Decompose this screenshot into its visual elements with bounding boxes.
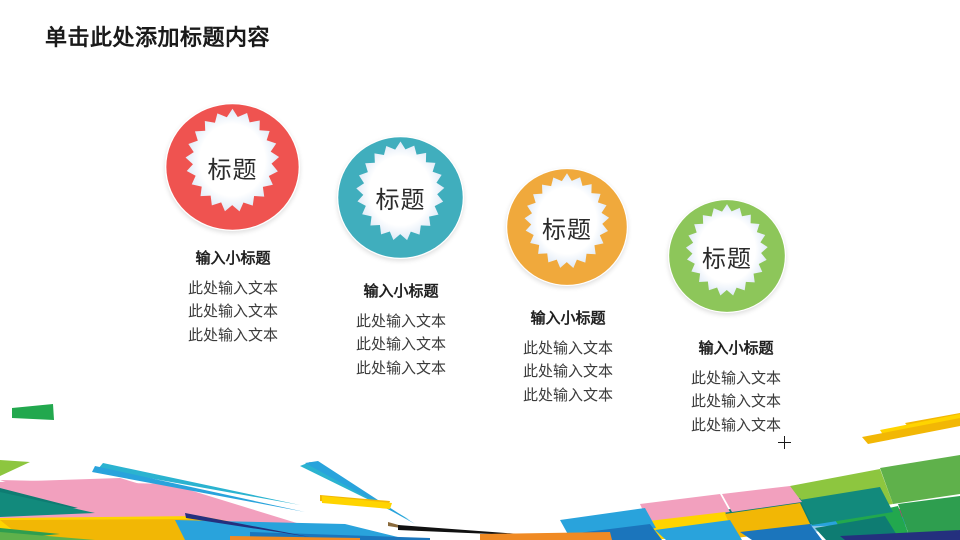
caption-block-1: 输入小标题 此处输入文本 此处输入文本 此处输入文本 <box>143 247 323 347</box>
caption-line-2-2: 此处输入文本 <box>311 333 491 356</box>
caption-block-3: 输入小标题 此处输入文本 此处输入文本 此处输入文本 <box>478 307 658 407</box>
caption-line-1-1: 此处输入文本 <box>143 277 323 300</box>
caption-line-4-2: 此处输入文本 <box>646 390 826 413</box>
gear-circle-4[interactable]: 标题 <box>668 199 786 313</box>
caption-line-3-2: 此处输入文本 <box>478 360 658 383</box>
gear-group-3: 标题 <box>506 168 628 286</box>
caption-block-2: 输入小标题 此处输入文本 此处输入文本 此处输入文本 <box>311 280 491 380</box>
caption-line-1-3: 此处输入文本 <box>143 324 323 347</box>
gear-group-1: 标题 <box>165 103 300 231</box>
caption-line-3-3: 此处输入文本 <box>478 384 658 407</box>
gear-circle-1[interactable]: 标题 <box>165 103 300 231</box>
caption-line-2-1: 此处输入文本 <box>311 310 491 333</box>
caption-line-3-1: 此处输入文本 <box>478 337 658 360</box>
cursor-crosshair-icon <box>778 436 791 449</box>
caption-line-1-2: 此处输入文本 <box>143 300 323 323</box>
caption-title-2: 输入小标题 <box>311 280 491 301</box>
caption-title-4: 输入小标题 <box>646 337 826 358</box>
caption-title-3: 输入小标题 <box>478 307 658 328</box>
presentation-slide: 单击此处添加标题内容 标题 输入小标题 此处输入文本 此处输入文本 此处输入文本 <box>0 0 960 540</box>
caption-line-4-3: 此处输入文本 <box>646 414 826 437</box>
gear-circle-2[interactable]: 标题 <box>337 136 464 259</box>
caption-block-4: 输入小标题 此处输入文本 此处输入文本 此处输入文本 <box>646 337 826 437</box>
gear-circle-label-3: 标题 <box>542 210 592 245</box>
caption-title-1: 输入小标题 <box>143 247 323 268</box>
gear-circle-3[interactable]: 标题 <box>506 168 628 286</box>
gear-group-2: 标题 <box>337 136 464 259</box>
page-title: 单击此处添加标题内容 <box>45 20 270 52</box>
gear-circle-label-4: 标题 <box>702 239 752 274</box>
gear-circle-label-2: 标题 <box>376 180 426 215</box>
gear-group-4: 标题 <box>668 199 786 313</box>
gear-circle-label-1: 标题 <box>208 150 258 185</box>
caption-line-2-3: 此处输入文本 <box>311 357 491 380</box>
caption-line-4-1: 此处输入文本 <box>646 367 826 390</box>
